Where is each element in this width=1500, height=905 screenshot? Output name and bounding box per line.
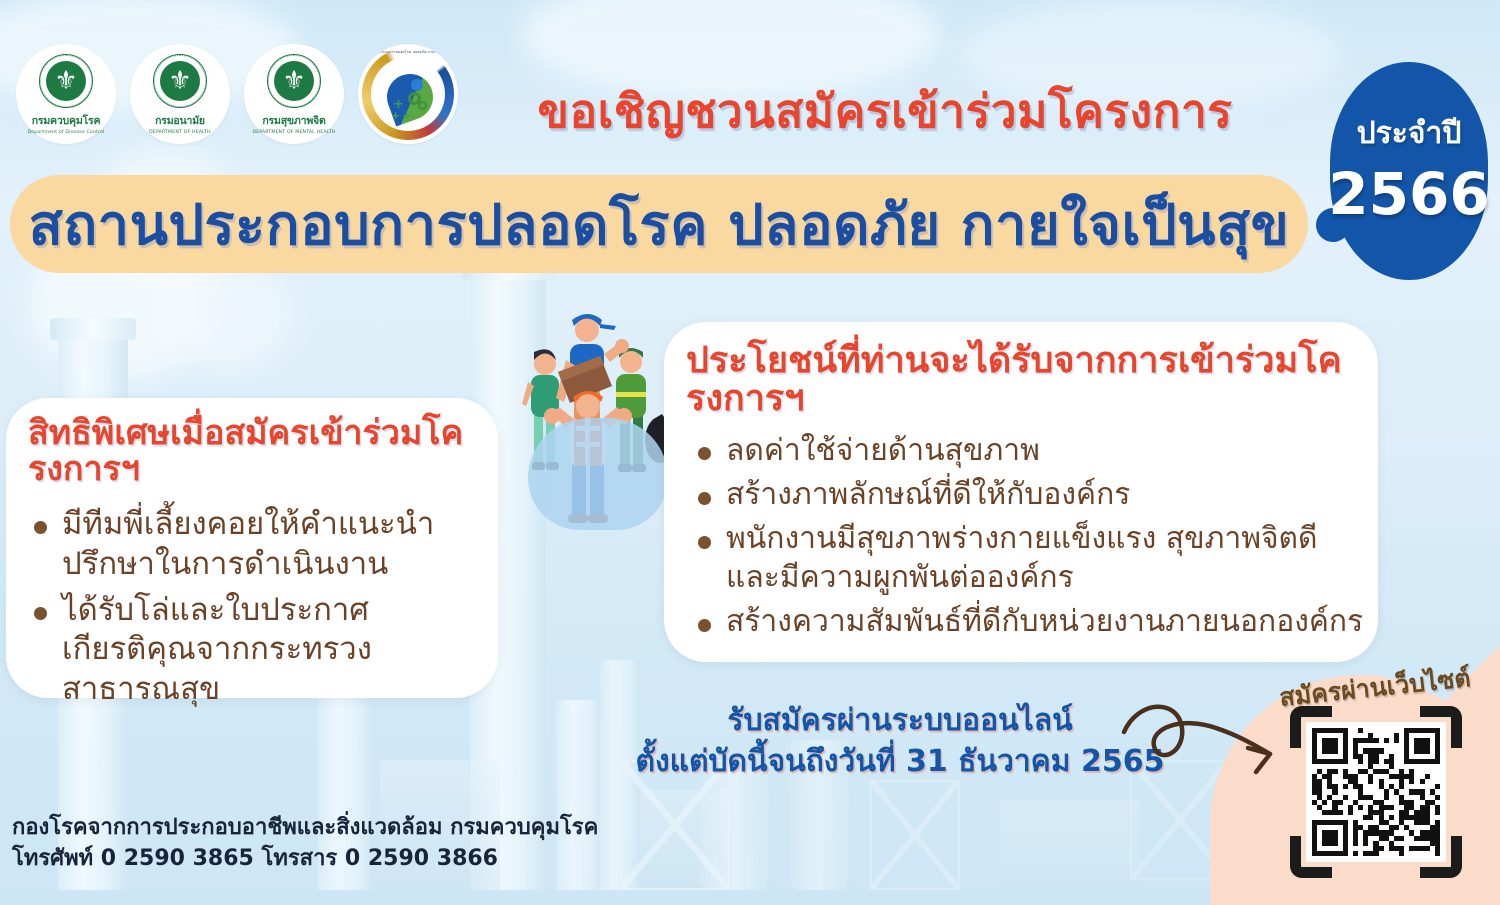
logo-dept-mental-health: ⚜ กรมสุขภาพจิต DEPARTMENT OF MENTAL HEAL… — [244, 44, 344, 144]
right-card-bullet-list: ลดค่าใช้จ่ายด้านสุขภาพ สร้างภาพลักษณ์ที่… — [684, 432, 1378, 642]
program-title-text: สถานประกอบการปลอดโรค ปลอดภัย กายใจเป็นสุ… — [29, 180, 1290, 269]
registration-line-2: ตั้งแต่บัดนี้จนถึงวันที่ 31 ธันวาคม 2565 — [620, 741, 1180, 782]
poster-root: ⚜ กรมควบคุมโรค Department of Disease Con… — [0, 0, 1500, 905]
list-item: ได้รับโล่และใบประกาศเกียรติคุณจากกระทรวง… — [20, 591, 498, 710]
footer-line-2: โทรศัพท์ 0 2590 3865 โทรสาร 0 2590 3866 — [12, 843, 712, 874]
list-item: ลดค่าใช้จ่ายด้านสุขภาพ — [684, 432, 1378, 470]
logo-label-en: DEPARTMENT OF HEALTH — [149, 130, 211, 135]
list-item: มีทีมพี่เลี้ยงคอยให้คำแนะนำปรึกษาในการดำ… — [20, 505, 498, 584]
footer-contact: กองโรคจากการประกอบอาชีพและสิ่งแวดล้อม กร… — [12, 812, 712, 874]
logo-label-en: DEPARTMENT OF MENTAL HEALTH — [252, 130, 335, 135]
poster-headline: ขอเชิญชวนสมัครเข้าร่วมโครงการ — [470, 86, 1300, 137]
logo-dept-health: ⚜ กรมอนามัย DEPARTMENT OF HEALTH — [130, 44, 230, 144]
left-card-bullet-list: มีทีมพี่เลี้ยงคอยให้คำแนะนำปรึกษาในการดำ… — [20, 505, 498, 709]
program-emblem-arc-text: สถานประกอบการปลอดโรค ปลอดภัย กายใจเป็นสุ… — [358, 49, 458, 55]
footer-line-1: กองโรคจากการประกอบอาชีพและสิ่งแวดล้อม กร… — [12, 812, 712, 843]
year-number: 2566 — [1328, 165, 1489, 223]
logo-row: ⚜ กรมควบคุมโรค Department of Disease Con… — [16, 44, 458, 144]
registration-line-1: รับสมัครผ่านระบบออนไลน์ — [620, 700, 1180, 741]
moph-caduceus-seal-icon: ⚜ — [39, 54, 93, 108]
logo-program-emblem: + + + สถานประกอบการปลอดโรค ปลอดภัย กายใจ… — [358, 44, 458, 144]
left-card-title: สิทธิพิเศษเมื่อสมัครเข้าร่วมโครงการฯ — [6, 398, 498, 487]
program-benefits-card: ประโยชน์ที่ท่านจะได้รับจากการเข้าร่วมโคร… — [664, 322, 1378, 662]
list-item: สร้างความสัมพันธ์ที่ดีกับหน่วยงานภายนอกอ… — [684, 603, 1378, 641]
logo-label-th: กรมอนามัย — [155, 112, 205, 129]
qr-code-icon[interactable] — [1290, 706, 1462, 878]
moph-caduceus-seal-icon: ⚜ — [153, 54, 207, 108]
logo-dept-disease-control: ⚜ กรมควบคุมโรค Department of Disease Con… — [16, 44, 116, 144]
year-speech-bubble: ประจำปี 2566 — [1330, 62, 1488, 280]
moph-caduceus-seal-icon: ⚜ — [267, 54, 321, 108]
registration-period-text: รับสมัครผ่านระบบออนไลน์ ตั้งแต่บัดนี้จนถ… — [620, 700, 1180, 783]
list-item: สร้างภาพลักษณ์ที่ดีให้กับองค์กร — [684, 476, 1378, 514]
group-of-workers-illustration — [508, 300, 688, 530]
year-label: ประจำปี — [1357, 119, 1462, 149]
logo-label-en: Department of Disease Control — [27, 130, 104, 135]
logo-label-th: กรมควบคุมโรค — [32, 112, 101, 129]
logo-label-th: กรมสุขภาพจิต — [262, 112, 325, 129]
program-title-banner: สถานประกอบการปลอดโรค ปลอดภัย กายใจเป็นสุ… — [10, 175, 1308, 273]
right-card-title: ประโยชน์ที่ท่านจะได้รับจากการเข้าร่วมโคร… — [664, 322, 1378, 418]
list-item: พนักงานมีสุขภาพร่างกายแข็งแรง สุขภาพจิตด… — [684, 520, 1378, 597]
special-benefits-card: สิทธิพิเศษเมื่อสมัครเข้าร่วมโครงการฯ มีท… — [6, 398, 498, 698]
